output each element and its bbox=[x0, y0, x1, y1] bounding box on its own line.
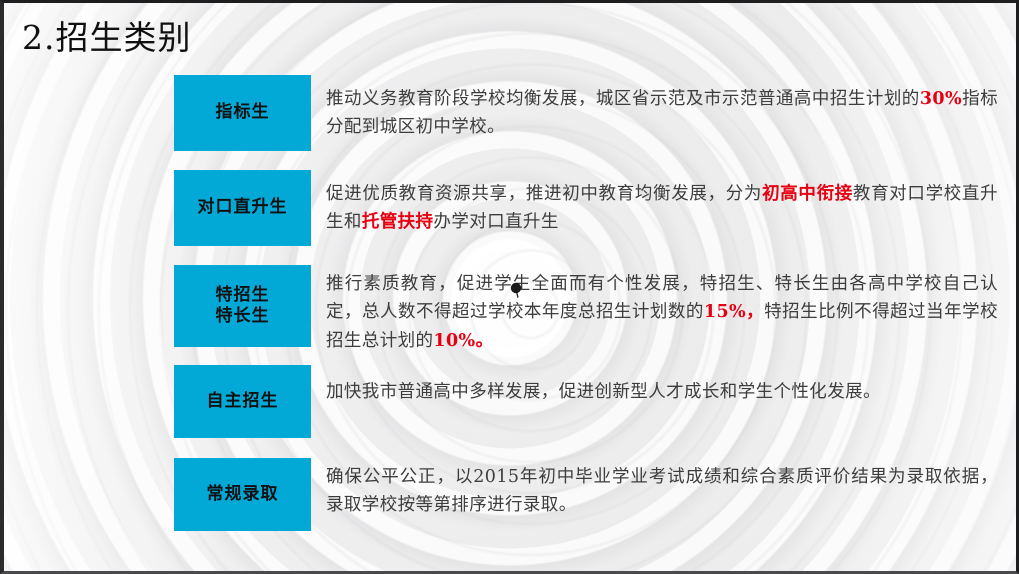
category-label-text-4: 自主招生 bbox=[207, 391, 279, 412]
highlighted-text: 30% bbox=[920, 89, 962, 109]
highlighted-text: 15%， bbox=[704, 302, 764, 322]
category-label-box-5[interactable]: 常规录取 bbox=[174, 458, 311, 531]
description-text: 推动义务教育阶段学校均衡发展，城区省示范及市示范普通高中招生计划的 bbox=[326, 89, 920, 109]
category-description-4: 加快我市普通高中多样发展，促进创新型人才成长和学生个性化发展。 bbox=[326, 378, 998, 406]
highlighted-text: 10%。 bbox=[433, 331, 493, 351]
category-label-line: 对口直升生 bbox=[198, 197, 288, 218]
category-label-text-3: 特招生特长生 bbox=[216, 285, 270, 328]
category-label-box-4[interactable]: 自主招生 bbox=[174, 365, 311, 438]
description-text: 办学对口直升生 bbox=[433, 212, 558, 232]
category-description-2: 促进优质教育资源共享，推进初中教育均衡发展，分为初高中衔接教育对口学校直升生和托… bbox=[326, 180, 998, 237]
category-label-box-1[interactable]: 指标生 bbox=[174, 75, 311, 151]
category-label-line: 特招生 bbox=[216, 285, 270, 306]
description-text: 加快我市普通高中多样发展，促进创新型人才成长和学生个性化发展。 bbox=[326, 382, 881, 402]
category-description-1: 推动义务教育阶段学校均衡发展，城区省示范及市示范普通高中招生计划的30%指标分配… bbox=[326, 85, 998, 142]
highlighted-text: 托管扶持 bbox=[362, 212, 434, 232]
category-description-3: 推行素质教育，促进学生全面而有个性发展，特招生、特长生由各高中学校自己认定，总人… bbox=[326, 270, 998, 355]
description-text: 确保公平公正，以2015年初中毕业学业考试成绩和综合素质评价结果为录取依据，录取… bbox=[326, 467, 998, 515]
category-label-text-2: 对口直升生 bbox=[198, 197, 288, 218]
category-label-box-3[interactable]: 特招生特长生 bbox=[174, 265, 311, 347]
highlighted-text: 初高中衔接 bbox=[762, 184, 853, 204]
category-label-text-5: 常规录取 bbox=[207, 484, 279, 505]
category-label-line: 指标生 bbox=[216, 102, 270, 123]
category-label-text-1: 指标生 bbox=[216, 102, 270, 123]
description-text: 促进优质教育资源共享，推进初中教育均衡发展，分为 bbox=[326, 184, 762, 204]
category-label-line: 特长生 bbox=[216, 306, 270, 327]
category-label-line: 常规录取 bbox=[207, 484, 279, 505]
category-label-box-2[interactable]: 对口直升生 bbox=[174, 170, 311, 246]
category-label-line: 自主招生 bbox=[207, 391, 279, 412]
page-title: 2.招生类别 bbox=[22, 11, 192, 59]
slide-frame: 2.招生类别 指标生 推动义务教育阶段学校均衡发展，城区省示范及市示范普通高中招… bbox=[0, 0, 1019, 574]
category-description-5: 确保公平公正，以2015年初中毕业学业考试成绩和综合素质评价结果为录取依据，录取… bbox=[326, 463, 998, 520]
